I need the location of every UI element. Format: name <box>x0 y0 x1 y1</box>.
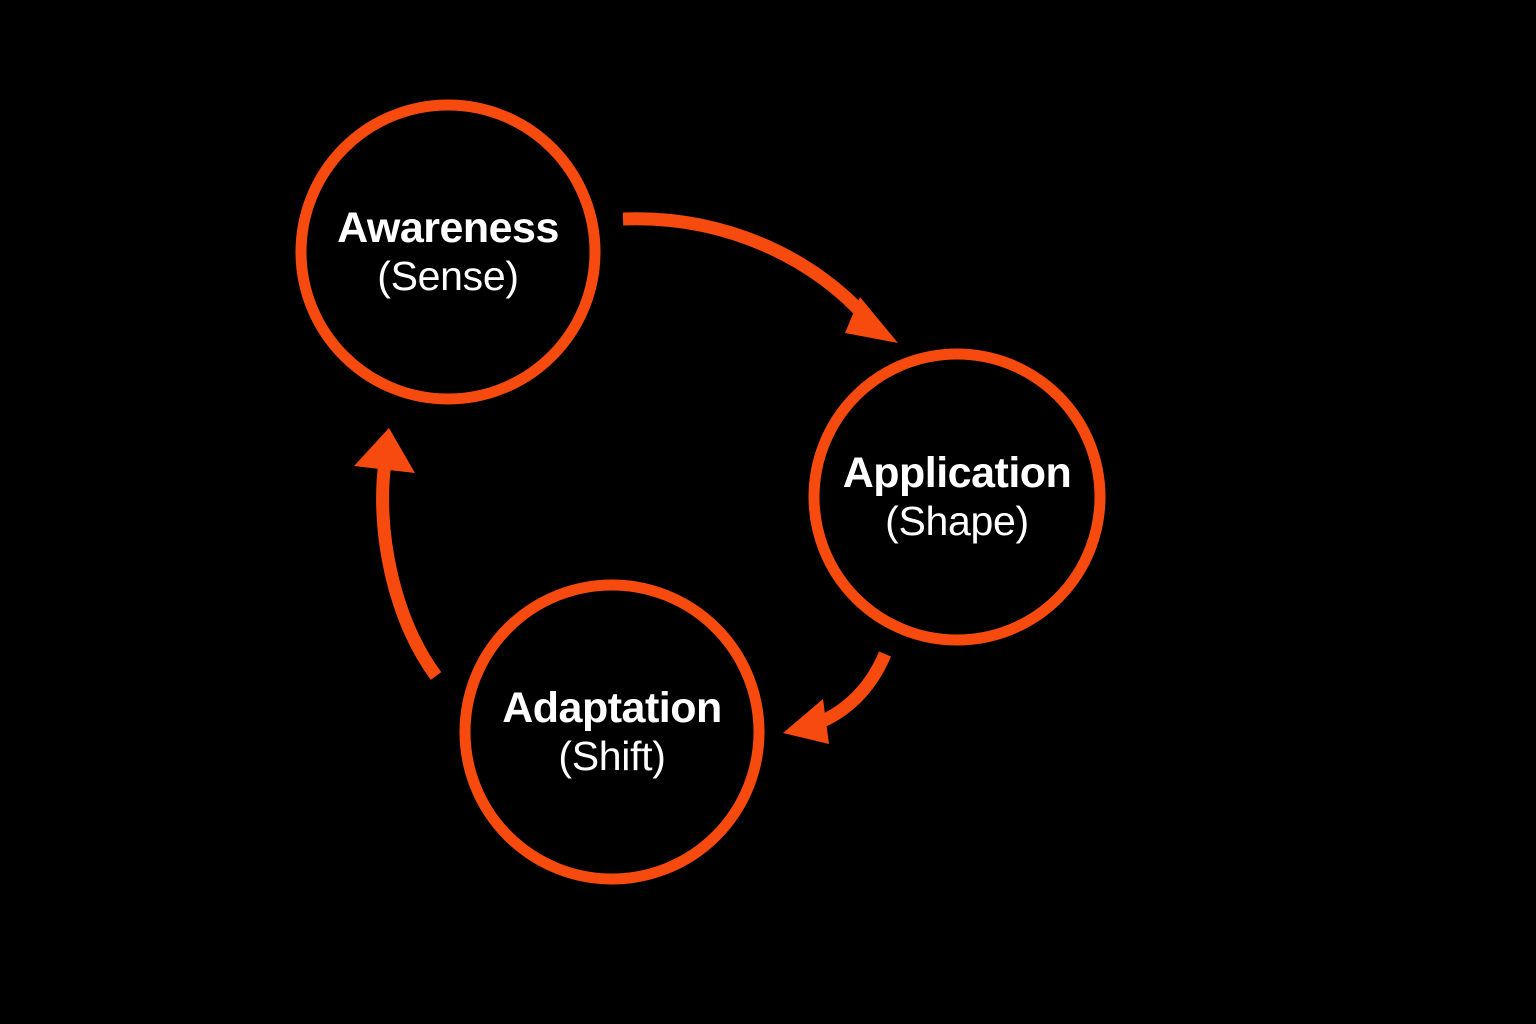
arrow-head-application-to-adaptation <box>783 699 829 744</box>
diagram-canvas: Awareness (Sense) Application (Shape) Ad… <box>0 0 1536 1024</box>
arrow-head-adaptation-to-awareness <box>354 428 415 473</box>
arrow-awareness-to-application <box>623 219 898 343</box>
arrow-adaptation-to-awareness <box>354 428 436 676</box>
arrow-path-adaptation-to-awareness <box>383 462 436 676</box>
arrow-path-application-to-adaptation <box>818 654 885 723</box>
cycle-diagram-svg <box>0 0 1536 1024</box>
node-circle-application[interactable] <box>814 354 1100 640</box>
node-circle-adaptation[interactable] <box>465 585 759 879</box>
node-circle-awareness[interactable] <box>301 105 595 399</box>
arrow-application-to-adaptation <box>783 654 885 744</box>
arrow-path-awareness-to-application <box>623 219 868 320</box>
